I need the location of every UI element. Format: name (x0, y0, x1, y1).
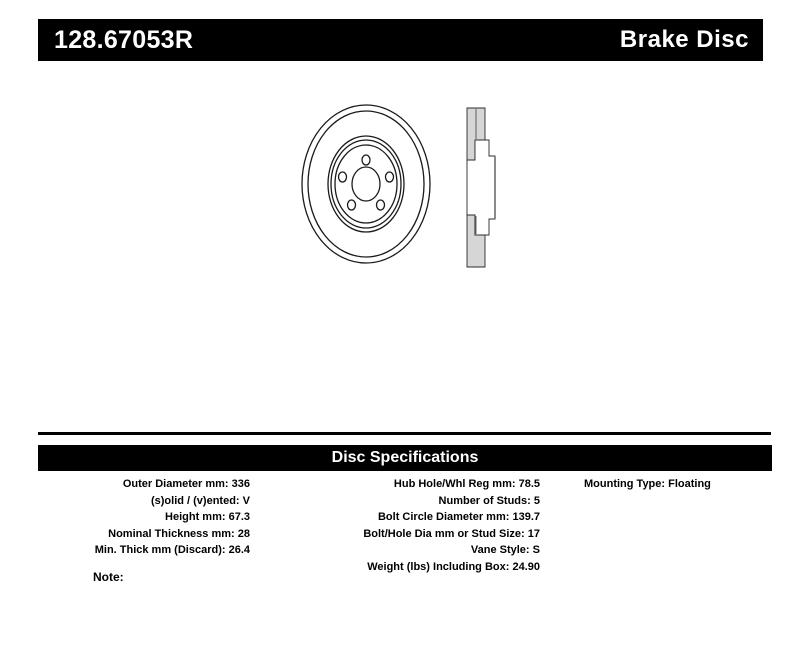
spec-value: 336 (232, 478, 250, 490)
spec-label: Outer Diameter mm: (123, 478, 229, 490)
spec-label: Vane Style: (471, 544, 530, 556)
stud-hole-group (339, 155, 394, 210)
spec-row: Hub Hole/Whl Reg mm: 78.5 (394, 476, 540, 493)
spec-label: Number of Studs: (439, 495, 531, 507)
specifications-table: Outer Diameter mm: 336 (s)olid / (v)ente… (38, 476, 772, 575)
spec-value: Floating (668, 478, 711, 490)
spec-value: 78.5 (519, 478, 540, 490)
spec-label: Bolt Circle Diameter mm: (378, 511, 509, 523)
spec-section-title: Disc Specifications (332, 450, 479, 466)
spec-value: 5 (534, 495, 540, 507)
spec-row: Outer Diameter mm: 336 (123, 476, 250, 493)
note-line: Note: (93, 570, 124, 584)
spec-label: Hub Hole/Whl Reg mm: (394, 478, 516, 490)
spec-row: Number of Studs: 5 (439, 493, 540, 510)
technical-drawing (280, 90, 540, 285)
spec-value: 28 (238, 528, 250, 540)
spec-column-left: Outer Diameter mm: 336 (s)olid / (v)ente… (38, 476, 250, 559)
spec-value: V (243, 495, 250, 507)
spec-value: S (533, 544, 540, 556)
spec-row: Nominal Thickness mm: 28 (108, 526, 250, 543)
header-banner: 128.67053R Brake Disc (38, 19, 763, 61)
spec-column-right: Mounting Type: Floating (540, 476, 772, 493)
spec-row: Min. Thick mm (Discard): 26.4 (95, 542, 250, 559)
part-number: 128.67053R (54, 28, 193, 53)
spec-value: 24.90 (512, 561, 540, 573)
spec-row: Mounting Type: Floating (584, 476, 711, 493)
spec-label: Height mm: (165, 511, 226, 523)
spec-value: 139.7 (512, 511, 540, 523)
spec-section-banner: Disc Specifications (38, 445, 772, 471)
spec-value: 67.3 (229, 511, 250, 523)
spec-row: Bolt Circle Diameter mm: 139.7 (378, 509, 540, 526)
spec-label: Min. Thick mm (Discard): (95, 544, 226, 556)
spec-label: Mounting Type: (584, 478, 665, 490)
spec-label: Weight (lbs) Including Box: (367, 561, 509, 573)
spec-value: 26.4 (229, 544, 250, 556)
spec-label: Bolt/Hole Dia mm or Stud Size: (363, 528, 524, 540)
spec-row: Vane Style: S (471, 542, 540, 559)
spec-label: Nominal Thickness mm: (108, 528, 235, 540)
section-divider (38, 432, 771, 435)
note-label: Note: (93, 570, 124, 584)
brake-rotor-side-section-view (455, 100, 515, 275)
spec-row: Height mm: 67.3 (165, 509, 250, 526)
spec-column-middle: Hub Hole/Whl Reg mm: 78.5 Number of Stud… (250, 476, 540, 575)
spec-row: Weight (lbs) Including Box: 24.90 (367, 559, 540, 576)
spec-row: (s)olid / (v)ented: V (151, 493, 250, 510)
spec-label: (s)olid / (v)ented: (151, 495, 240, 507)
spec-value: 17 (528, 528, 540, 540)
spec-row: Bolt/Hole Dia mm or Stud Size: 17 (363, 526, 540, 543)
brake-rotor-face-view (300, 102, 432, 266)
product-type-label: Brake Disc (620, 28, 749, 52)
